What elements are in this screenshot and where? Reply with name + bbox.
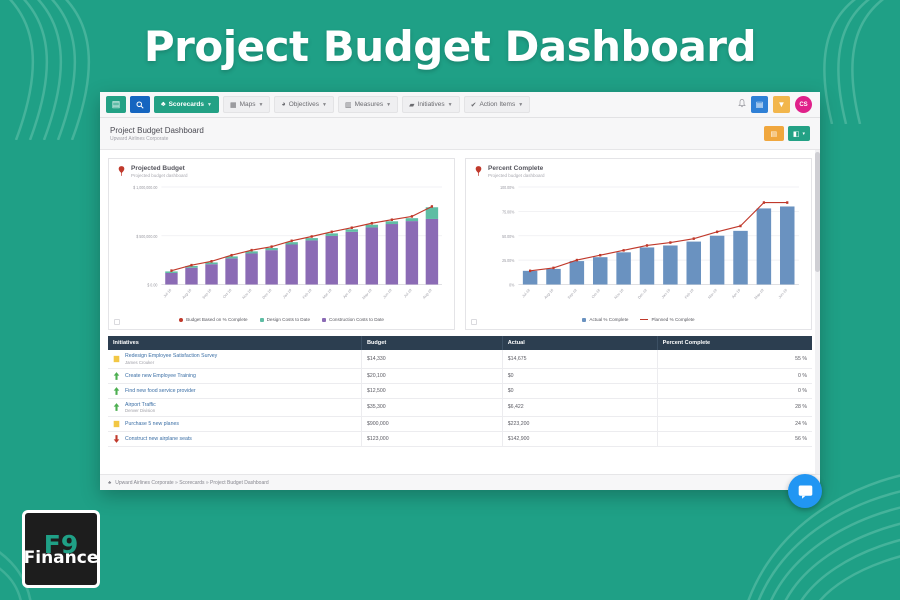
card-resize-handle[interactable]	[471, 319, 477, 325]
cell-initiative: Purchase 5 new planes	[108, 417, 361, 432]
legend-swatch	[260, 318, 264, 322]
column-header-initiatives[interactable]: Initiatives	[108, 336, 361, 350]
nav-menu-scorecards-label: Scorecards	[169, 101, 204, 108]
legend-item-design: Design Costs to Date	[260, 317, 310, 322]
pin-glyph	[118, 166, 125, 176]
table-header-row: Initiatives Budget Actual Percent Comple…	[108, 336, 812, 350]
alerts-glyph: ▼	[778, 100, 786, 109]
maps-icon: ▦	[230, 101, 237, 109]
cell-initiative: Construct new airplane seats	[108, 432, 361, 447]
svg-text:Oct-18: Oct-18	[222, 288, 232, 299]
nav-menu-action-items-label: Action Items	[479, 101, 515, 108]
cell-initiative: Create new Employee Training	[108, 368, 361, 383]
breadcrumb-bar: ♣ Upward Airlines Corporate » Scorecards…	[100, 474, 820, 490]
svg-text:Aug-18: Aug-18	[544, 288, 554, 300]
svg-text:May-19: May-19	[362, 288, 373, 300]
export-button[interactable]: ▤	[764, 126, 784, 141]
nav-menu-initiatives-label: Initiatives	[418, 101, 445, 108]
legend-item-budget: Budget Based on % Complete	[179, 317, 248, 322]
legend-item-planned: Planned % Complete	[640, 317, 694, 322]
dashboard-toggle-button[interactable]: ▤	[751, 96, 768, 113]
legend-item-actual: Actual % Complete	[582, 317, 628, 322]
legend-label: Actual % Complete	[589, 317, 628, 322]
initiative-name[interactable]: Purchase 5 new planes	[125, 421, 179, 427]
cell-percent-complete: 0 %	[657, 368, 812, 383]
status-yellow-icon	[113, 420, 120, 428]
initiative-text: Purchase 5 new planes	[125, 421, 179, 427]
column-header-actual[interactable]: Actual	[502, 336, 657, 350]
card-subtitle: Projected budget dashboard	[488, 173, 545, 178]
svg-text:0%: 0%	[509, 282, 515, 287]
card-projected-budget: Projected Budget Projected budget dashbo…	[108, 158, 455, 330]
cell-actual: $223,200	[502, 417, 657, 432]
legend-swatch	[322, 318, 326, 322]
cell-percent-complete: 55 %	[657, 350, 812, 368]
nav-menu-maps-label: Maps	[240, 101, 256, 108]
svg-text:Jun-19: Jun-19	[778, 288, 788, 300]
table-row[interactable]: Redesign Employee Satisfaction SurveyJam…	[108, 350, 812, 368]
breadcrumb[interactable]: Upward Airlines Corporate » Scorecards »…	[115, 480, 268, 486]
dashboard-title: Project Budget Dashboard	[110, 126, 204, 135]
cell-percent-complete: 0 %	[657, 383, 812, 398]
svg-text:Jul-19: Jul-19	[403, 288, 412, 299]
nav-menu-scorecards[interactable]: ♣ Scorecards ▼	[154, 96, 219, 113]
cell-initiative: Airport TrafficDenver Division	[108, 398, 361, 417]
legend-label: Planned % Complete	[651, 317, 694, 322]
scorecards-icon: ♣	[161, 101, 166, 108]
table-row[interactable]: Find new food service provider$12,500$00…	[108, 383, 812, 398]
chart-percent-complete-svg: 100.00%75.00%50.00%25.00%0%Jul-18Aug-18S…	[472, 180, 805, 317]
app-menu-icon[interactable]: ▤	[106, 96, 126, 113]
table-row[interactable]: Airport TrafficDenver Division$35,300$6,…	[108, 398, 812, 417]
svg-text:Dec-18: Dec-18	[637, 288, 647, 300]
svg-text:Jul-18: Jul-18	[163, 288, 172, 299]
chart-legend-projected-budget: Budget Based on % Complete Design Costs …	[109, 317, 454, 329]
svg-text:25.00%: 25.00%	[502, 258, 515, 263]
nav-menu-action-items[interactable]: ✔ Action Items ▼	[464, 96, 531, 113]
measures-icon: ▥	[345, 101, 352, 109]
cell-budget: $35,300	[361, 398, 502, 417]
initiative-cell: Redesign Employee Satisfaction SurveyJam…	[113, 353, 356, 365]
chat-support-button[interactable]	[788, 474, 822, 508]
svg-text:Dec-18: Dec-18	[262, 288, 272, 300]
status-green-icon	[113, 372, 120, 380]
legend-swatch	[179, 318, 183, 322]
initiative-cell: Airport TrafficDenver Division	[113, 402, 356, 414]
screenshot-root: Project Budget Dashboard ▤ ♣ Scorecards …	[0, 0, 900, 600]
chart-legend-percent-complete: Actual % Complete Planned % Complete	[466, 317, 811, 329]
initiative-owner: James Crouker	[125, 360, 217, 365]
chevron-down-icon: ▾	[802, 131, 805, 137]
initiative-name[interactable]: Redesign Employee Satisfaction Survey	[125, 353, 217, 359]
edit-dashboard-button[interactable]: ◧ ▾	[788, 126, 810, 141]
navbar-right-cluster: ▤ ▼ CS	[738, 96, 814, 113]
svg-text:Jul-18: Jul-18	[522, 288, 531, 299]
card-title: Percent Complete	[488, 165, 545, 172]
initiative-cell: Purchase 5 new planes	[113, 420, 356, 428]
card-header: Percent Complete Projected budget dashbo…	[466, 159, 811, 180]
chart-projected-budget: $ 1,000,000.00$ 500,000.00$ 0.00Jul-18Au…	[115, 180, 448, 317]
search-icon[interactable]	[130, 96, 150, 113]
notification-bell-icon[interactable]	[738, 99, 746, 110]
table-body: Redesign Employee Satisfaction SurveyJam…	[108, 350, 812, 447]
initiatives-icon: ▰	[409, 101, 414, 109]
initiatives-table-wrapper: Initiatives Budget Actual Percent Comple…	[100, 330, 820, 447]
initiative-cell: Find new food service provider	[113, 387, 356, 395]
export-icon: ▤	[771, 130, 778, 138]
chevron-down-icon: ▼	[259, 102, 264, 108]
table-row[interactable]: Create new Employee Training$20,100$00 %	[108, 368, 812, 383]
cell-actual: $14,675	[502, 350, 657, 368]
status-red-icon	[113, 435, 120, 443]
legend-swatch	[582, 318, 586, 322]
page-header-text: Project Budget Dashboard Upward Airlines…	[110, 126, 204, 142]
edit-icon: ◧	[793, 130, 800, 138]
svg-text:Aug-19: Aug-19	[422, 288, 432, 300]
cell-budget: $12,500	[361, 383, 502, 398]
page-header-actions: ▤ ◧ ▾	[764, 126, 810, 141]
initiative-text: Create new Employee Training	[125, 373, 196, 379]
scrollbar-thumb[interactable]	[815, 152, 820, 272]
nav-menu-measures-label: Measures	[355, 101, 384, 108]
cell-actual: $142,900	[502, 432, 657, 447]
initiative-cell: Create new Employee Training	[113, 372, 356, 380]
card-resize-handle[interactable]	[114, 319, 120, 325]
initiative-cell: Construct new airplane seats	[113, 435, 356, 443]
initiative-name[interactable]: Construct new airplane seats	[125, 436, 192, 442]
page-header: Project Budget Dashboard Upward Airlines…	[100, 118, 820, 150]
svg-text:Oct-18: Oct-18	[591, 288, 601, 299]
card-title-group: Percent Complete Projected budget dashbo…	[488, 165, 545, 178]
svg-text:Sep-18: Sep-18	[567, 288, 577, 300]
cell-budget: $20,100	[361, 368, 502, 383]
svg-text:Feb-19: Feb-19	[684, 288, 694, 300]
charts-row: Projected Budget Projected budget dashbo…	[100, 150, 820, 330]
initiative-text: Redesign Employee Satisfaction SurveyJam…	[125, 353, 217, 365]
svg-text:100.00%: 100.00%	[500, 185, 515, 190]
status-green-icon	[113, 403, 120, 411]
svg-text:Mar-19: Mar-19	[322, 288, 332, 300]
app-window: ▤ ♣ Scorecards ▼ ▦ Maps ▼ ◕ Objectives	[100, 92, 820, 490]
table-head: Initiatives Budget Actual Percent Comple…	[108, 336, 812, 350]
initiative-name[interactable]: Create new Employee Training	[125, 373, 196, 379]
logo: F9 Finance	[22, 510, 100, 588]
legend-item-construction: Construction Costs to Date	[322, 317, 384, 322]
svg-text:May-19: May-19	[754, 288, 765, 300]
vertical-scrollbar[interactable]	[815, 150, 820, 490]
nav-menu-objectives[interactable]: ◕ Objectives ▼	[274, 96, 334, 113]
action-items-icon: ✔	[471, 101, 477, 109]
dashboard-subtitle: Upward Airlines Corporate	[110, 136, 204, 142]
cell-percent-complete: 24 %	[657, 417, 812, 432]
initiative-text: Airport TrafficDenver Division	[125, 402, 156, 414]
svg-text:Feb-19: Feb-19	[302, 288, 312, 300]
bell-glyph	[738, 99, 746, 108]
svg-text:$ 500,000.00: $ 500,000.00	[136, 234, 158, 239]
card-title: Projected Budget	[131, 165, 188, 172]
dashboard-body: Projected Budget Projected budget dashbo…	[100, 150, 820, 490]
cell-actual: $0	[502, 368, 657, 383]
svg-text:Jan-19: Jan-19	[282, 288, 292, 300]
svg-text:75.00%: 75.00%	[502, 209, 515, 214]
cell-initiative: Redesign Employee Satisfaction SurveyJam…	[108, 350, 361, 368]
card-percent-complete: Percent Complete Projected budget dashbo…	[465, 158, 812, 330]
nav-menu-maps[interactable]: ▦ Maps ▼	[223, 96, 270, 113]
avatar-initials: CS	[799, 102, 807, 108]
svg-text:Nov-18: Nov-18	[614, 288, 624, 300]
cell-actual: $6,422	[502, 398, 657, 417]
pin-icon	[117, 165, 126, 176]
logo-finance-text: Finance	[24, 550, 99, 567]
cell-budget: $123,000	[361, 432, 502, 447]
status-green-icon	[113, 387, 120, 395]
initiative-text: Find new food service provider	[125, 388, 196, 394]
chevron-down-icon: ▼	[448, 102, 453, 108]
initiatives-table: Initiatives Budget Actual Percent Comple…	[108, 336, 812, 447]
legend-label: Design Costs to Date	[267, 317, 310, 322]
svg-text:Apr-19: Apr-19	[343, 288, 353, 299]
svg-text:$ 1,000,000.00: $ 1,000,000.00	[133, 185, 158, 190]
svg-text:Mar-19: Mar-19	[707, 288, 717, 300]
nav-menu-objectives-label: Objectives	[289, 101, 319, 108]
svg-text:Jan-19: Jan-19	[661, 288, 671, 300]
chevron-down-icon: ▼	[322, 102, 327, 108]
breadcrumb-home-icon: ♣	[108, 480, 111, 486]
cell-actual: $0	[502, 383, 657, 398]
column-header-budget[interactable]: Budget	[361, 336, 502, 350]
legend-swatch	[640, 319, 648, 321]
table-row[interactable]: Construct new airplane seats$123,000$142…	[108, 432, 812, 447]
cell-initiative: Find new food service provider	[108, 383, 361, 398]
chat-icon	[797, 483, 814, 500]
initiative-owner: Denver Division	[125, 408, 156, 413]
svg-text:Aug-18: Aug-18	[182, 288, 192, 300]
chart-projected-budget-svg: $ 1,000,000.00$ 500,000.00$ 0.00Jul-18Au…	[115, 180, 448, 317]
cell-budget: $14,330	[361, 350, 502, 368]
alerts-button[interactable]: ▼	[773, 96, 790, 113]
svg-text:Sep-18: Sep-18	[202, 288, 212, 300]
legend-label: Construction Costs to Date	[329, 317, 384, 322]
svg-text:Apr-19: Apr-19	[731, 288, 741, 299]
legend-label: Budget Based on % Complete	[186, 317, 248, 322]
avatar[interactable]: CS	[795, 96, 812, 113]
page-title: Project Budget Dashboard	[0, 22, 900, 71]
svg-text:50.00%: 50.00%	[502, 234, 515, 239]
objectives-icon: ◕	[281, 101, 285, 108]
cell-percent-complete: 28 %	[657, 398, 812, 417]
card-title-group: Projected Budget Projected budget dashbo…	[131, 165, 188, 178]
cell-percent-complete: 56 %	[657, 432, 812, 447]
pin-glyph	[475, 166, 482, 176]
dashboard-toggle-glyph: ▤	[756, 100, 764, 109]
nav-menu-measures[interactable]: ▥ Measures ▼	[338, 96, 398, 113]
chevron-down-icon: ▼	[207, 102, 212, 108]
svg-text:Nov-18: Nov-18	[242, 288, 252, 300]
svg-text:Jun-19: Jun-19	[382, 288, 392, 300]
status-yellow-icon	[113, 355, 120, 363]
column-header-percent-complete[interactable]: Percent Complete	[657, 336, 812, 350]
card-subtitle: Projected budget dashboard	[131, 173, 188, 178]
card-header: Projected Budget Projected budget dashbo…	[109, 159, 454, 180]
chevron-down-icon: ▼	[386, 102, 391, 108]
pin-icon	[474, 165, 483, 176]
initiative-name[interactable]: Airport Traffic	[125, 402, 156, 408]
top-navigation-bar: ▤ ♣ Scorecards ▼ ▦ Maps ▼ ◕ Objectives	[100, 92, 820, 118]
search-glyph	[136, 101, 144, 109]
svg-text:$ 0.00: $ 0.00	[147, 282, 158, 287]
initiative-name[interactable]: Find new food service provider	[125, 388, 196, 394]
chevron-down-icon: ▼	[518, 102, 523, 108]
cell-budget: $900,000	[361, 417, 502, 432]
initiative-text: Construct new airplane seats	[125, 436, 192, 442]
table-row[interactable]: Purchase 5 new planes$900,000$223,20024 …	[108, 417, 812, 432]
app-menu-glyph: ▤	[112, 99, 121, 110]
nav-menu-initiatives[interactable]: ▰ Initiatives ▼	[402, 96, 459, 113]
chart-percent-complete: 100.00%75.00%50.00%25.00%0%Jul-18Aug-18S…	[472, 180, 805, 317]
